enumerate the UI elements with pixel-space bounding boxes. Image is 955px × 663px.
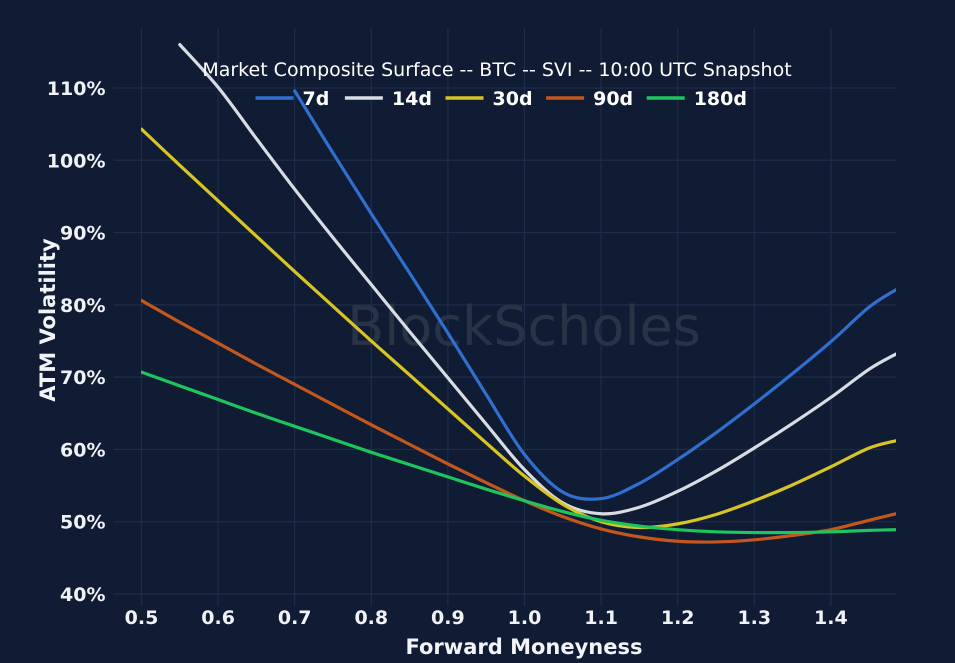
x-axis-title: Forward Moneyness: [406, 635, 643, 659]
x-axis-tick-label: 0.6: [201, 607, 235, 629]
legend-label-30d[interactable]: 30d: [493, 88, 533, 110]
y-axis-tick-label: 50%: [60, 512, 105, 534]
x-axis-tick-label: 0.5: [125, 607, 159, 629]
x-axis-tick-label: 1.1: [584, 607, 618, 629]
y-axis-tick-label: 90%: [60, 223, 105, 245]
y-axis-tick-label: 70%: [60, 367, 105, 389]
legend-label-180d[interactable]: 180d: [694, 88, 747, 110]
y-axis-title: ATM Volatility: [36, 238, 60, 402]
legend-label-90d[interactable]: 90d: [593, 88, 633, 110]
x-axis-tick-label: 1.3: [737, 607, 771, 629]
chart-title: Market Composite Surface -- BTC -- SVI -…: [202, 59, 791, 81]
legend-label-14d[interactable]: 14d: [392, 88, 432, 110]
chart-container: BlockScholes 40%50%60%70%80%90%100%110% …: [0, 0, 955, 663]
x-axis-tick-label: 1.0: [508, 607, 542, 629]
x-axis-tick-label: 0.9: [431, 607, 465, 629]
x-axis-tick-label: 1.2: [661, 607, 695, 629]
x-axis-tick-label: 0.7: [278, 607, 312, 629]
x-axis-tick-label: 1.4: [814, 607, 848, 629]
x-axis-tick-label: 0.8: [354, 607, 388, 629]
legend-label-7d[interactable]: 7d: [303, 88, 330, 110]
y-axis-tick-label: 110%: [47, 78, 106, 100]
watermark: BlockScholes: [347, 295, 701, 358]
y-axis-tick-label: 80%: [60, 295, 105, 317]
y-axis-tick-label: 40%: [60, 584, 105, 606]
y-axis-tick-label: 100%: [47, 150, 106, 172]
volatility-smile-chart: BlockScholes 40%50%60%70%80%90%100%110% …: [0, 0, 955, 663]
y-axis-tick-label: 60%: [60, 439, 105, 461]
